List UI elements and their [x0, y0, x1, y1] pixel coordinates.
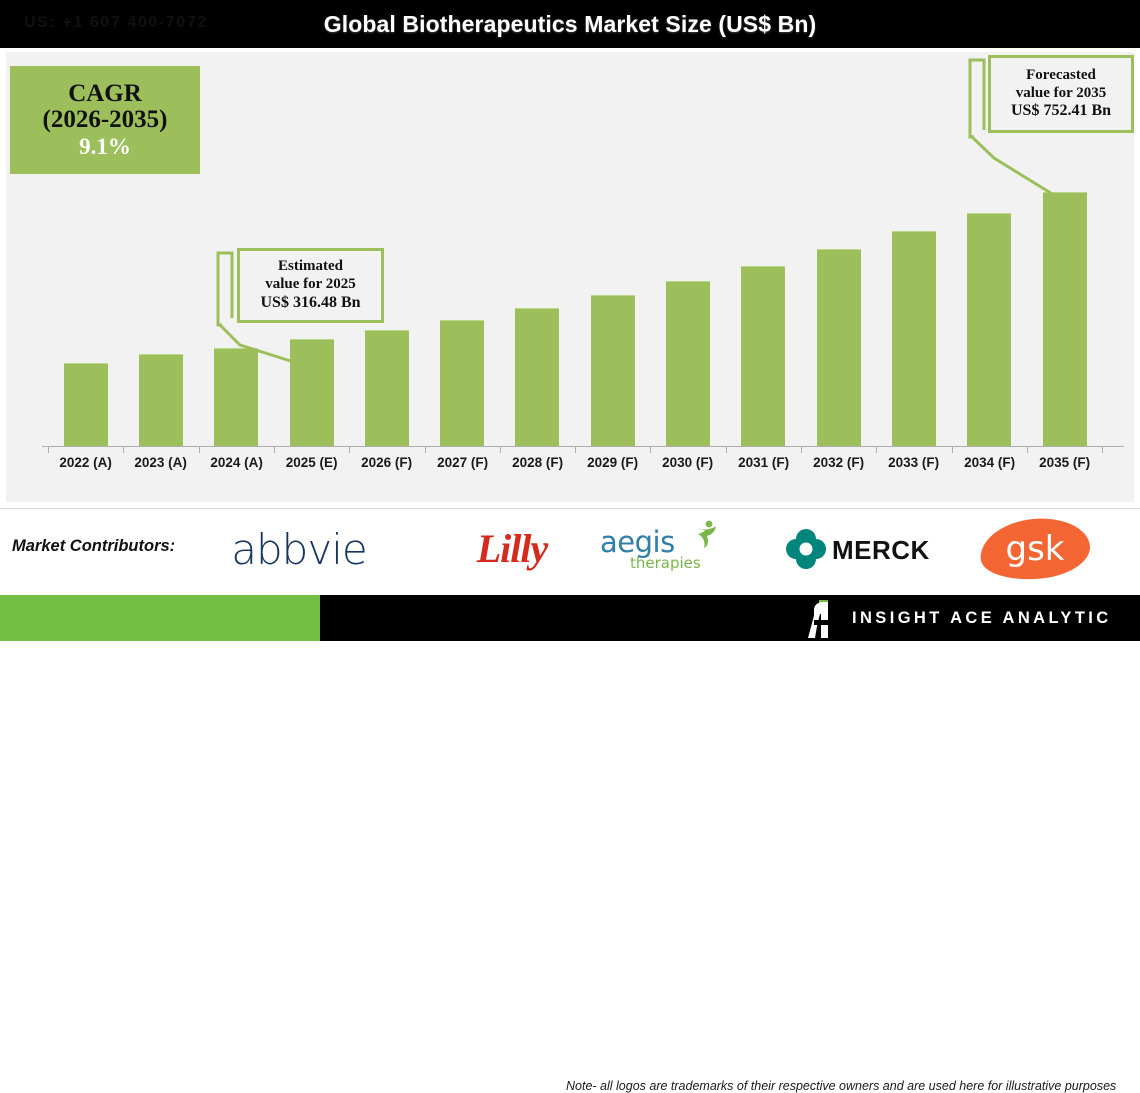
- x-label-2031F: 2031 (F): [726, 455, 801, 470]
- callout-estimated-value: US$ 316.48 Bn: [260, 294, 360, 313]
- cagr-box: CAGR (2026-2035) 9.1%: [10, 66, 200, 174]
- x-axis-tick: [48, 446, 49, 453]
- x-axis-tick: [274, 446, 275, 453]
- x-label-2034F: 2034 (F): [952, 455, 1027, 470]
- bar-2030F: [666, 281, 710, 446]
- x-axis-tick: [726, 446, 727, 453]
- footer-phone: US: +1 607 400-7072: [24, 0, 208, 46]
- bar-2031F: [741, 266, 785, 446]
- bar-2035F: [1043, 192, 1087, 446]
- aegis-logo-subtext: therapies: [630, 554, 701, 572]
- merck-logo-text: MERCK: [832, 535, 930, 566]
- bar-2029F: [591, 295, 635, 446]
- x-label-2028F: 2028 (F): [500, 455, 575, 470]
- x-axis-labels: 2022 (A)2023 (A)2024 (A)2025 (E)2026 (F)…: [6, 455, 1134, 481]
- x-label-2024A: 2024 (A): [199, 455, 274, 470]
- callout-estimated-line2: value for 2025: [265, 276, 356, 294]
- x-label-2030F: 2030 (F): [650, 455, 725, 470]
- x-label-2027F: 2027 (F): [425, 455, 500, 470]
- lilly-logo: Lilly: [452, 523, 572, 573]
- x-axis-tick: [425, 446, 426, 453]
- x-label-2029F: 2029 (F): [575, 455, 650, 470]
- x-axis-tick: [199, 446, 200, 453]
- x-axis-tick: [500, 446, 501, 453]
- bar-2032F: [817, 249, 861, 446]
- x-axis-tick: [1027, 446, 1028, 453]
- merck-cross-icon: [786, 529, 826, 569]
- abbvie-logo: abbvie: [206, 525, 392, 573]
- cagr-value: 9.1%: [79, 135, 131, 159]
- bar-2033F: [892, 231, 936, 446]
- callout-estimated-2025: Estimated value for 2025 US$ 316.48 Bn: [237, 248, 384, 323]
- bar-2024A: [214, 348, 258, 446]
- x-axis-tick: [1102, 446, 1103, 453]
- trademark-note: Note- all logos are trademarks of their …: [566, 1079, 1116, 1093]
- gsk-logo-text: gsk: [980, 519, 1090, 579]
- x-label-2035F: 2035 (F): [1027, 455, 1102, 470]
- x-label-2025E: 2025 (E): [274, 455, 349, 470]
- cagr-title: CAGR: [68, 81, 142, 108]
- bar-2027F: [440, 320, 484, 446]
- callout-forecasted-2035: Forecasted value for 2035 US$ 752.41 Bn: [988, 55, 1134, 133]
- bar-2023A: [139, 354, 183, 446]
- x-label-2026F: 2026 (F): [349, 455, 424, 470]
- callout-forecasted-value: US$ 752.41 Bn: [1011, 102, 1111, 121]
- x-axis-tick: [952, 446, 953, 453]
- bar-2034F: [967, 213, 1011, 446]
- bar-2025E: [290, 339, 334, 446]
- x-axis-line: [42, 446, 1124, 447]
- x-axis-tick: [801, 446, 802, 453]
- x-axis-tick: [876, 446, 877, 453]
- footer-green-block: [0, 595, 320, 641]
- aegis-logo: aegis therapies: [600, 521, 740, 577]
- market-contributors-label: Market Contributors:: [12, 537, 175, 556]
- aegis-person-icon: [692, 519, 722, 549]
- insight-ace-a-logo-icon: [802, 600, 842, 638]
- bar-2026F: [365, 330, 409, 446]
- cagr-period: (2026-2035): [43, 107, 168, 134]
- x-axis-tick: [650, 446, 651, 453]
- callout-estimated-line1: Estimated: [278, 258, 343, 276]
- x-axis-tick: [575, 446, 576, 453]
- gsk-logo: gsk: [980, 519, 1090, 579]
- x-axis-tick: [123, 446, 124, 453]
- x-label-2033F: 2033 (F): [876, 455, 951, 470]
- x-label-2032F: 2032 (F): [801, 455, 876, 470]
- x-label-2022A: 2022 (A): [48, 455, 123, 470]
- bar-2022A: [64, 363, 108, 446]
- callout-forecasted-line1: Forecasted: [1026, 67, 1096, 85]
- x-label-2023A: 2023 (A): [123, 455, 198, 470]
- infographic-root: Global Biotherapeutics Market Size (US$ …: [0, 0, 1140, 641]
- callout-forecasted-line2: value for 2035: [1016, 85, 1107, 103]
- bar-2028F: [515, 308, 559, 446]
- x-axis-tick: [349, 446, 350, 453]
- merck-logo: MERCK: [786, 527, 946, 571]
- footer-brand: INSIGHT ACE ANALYTIC: [852, 595, 1112, 641]
- market-contributors-strip: Market Contributors: abbvie Lilly aegis …: [0, 508, 1140, 596]
